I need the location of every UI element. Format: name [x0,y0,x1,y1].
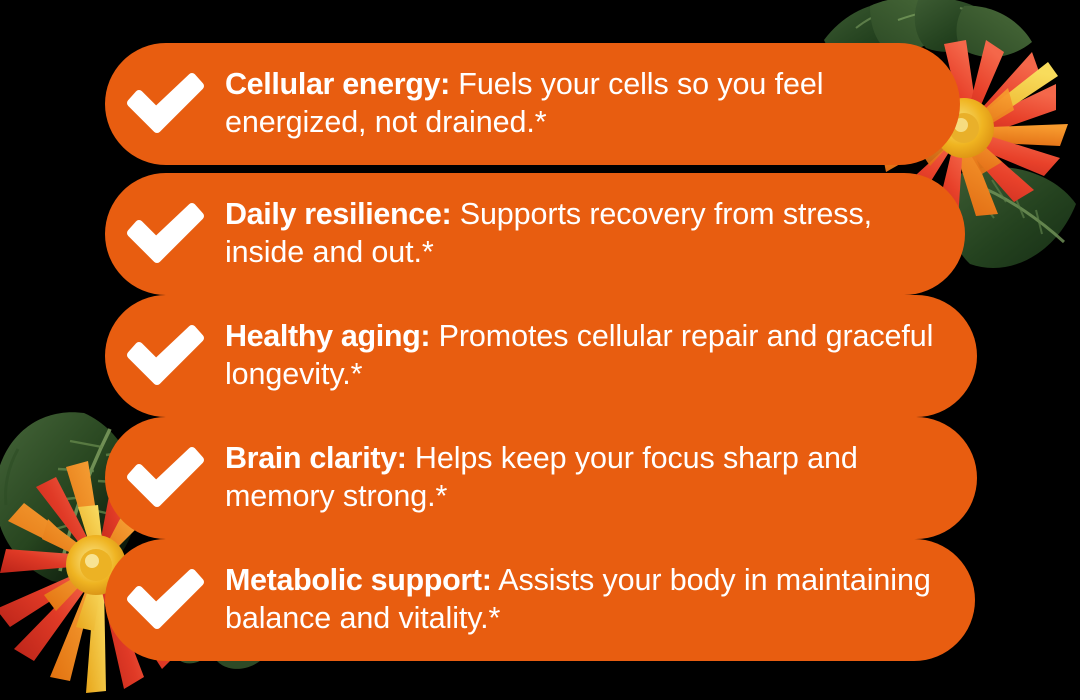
benefit-lead: Daily resilience: [225,197,451,231]
check-icon [105,447,225,509]
benefit-text: Metabolic support: Assists your body in … [225,562,975,638]
benefit-text: Daily resilience: Supports recovery from… [225,196,965,272]
benefit-lead: Cellular energy: [225,67,450,101]
check-icon [105,325,225,387]
benefit-bar-cellular-energy[interactable]: Cellular energy: Fuels your cells so you… [105,43,960,165]
benefit-text: Cellular energy: Fuels your cells so you… [225,66,960,142]
benefit-text: Healthy aging: Promotes cellular repair … [225,318,977,394]
benefit-lead: Metabolic support: [225,563,492,597]
benefits-panel: Cellular energy: Fuels your cells so you… [0,0,1080,700]
check-icon [105,569,225,631]
benefit-lead: Healthy aging: [225,319,430,353]
check-icon [105,73,225,135]
benefit-bar-brain-clarity[interactable]: Brain clarity: Helps keep your focus sha… [105,417,977,539]
leaf-lower [950,167,1076,268]
check-icon [105,203,225,265]
benefit-bar-daily-resilience[interactable]: Daily resilience: Supports recovery from… [105,173,965,295]
benefit-bar-healthy-aging[interactable]: Healthy aging: Promotes cellular repair … [105,295,977,417]
benefit-text: Brain clarity: Helps keep your focus sha… [225,440,977,516]
benefit-lead: Brain clarity: [225,441,407,475]
benefit-bar-metabolic-support[interactable]: Metabolic support: Assists your body in … [105,539,975,661]
